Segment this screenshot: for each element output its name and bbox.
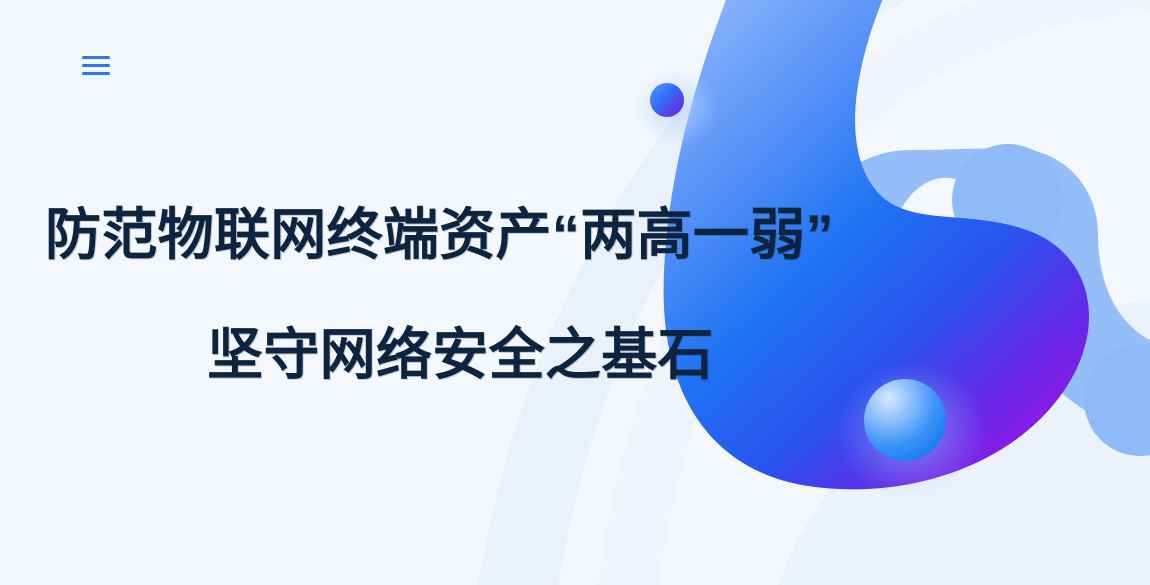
- page-title-line-2: 坚守网络安全之基石: [0, 327, 900, 383]
- small-gradient-sphere: [650, 83, 684, 117]
- large-blue-sphere: [864, 379, 946, 461]
- hamburger-menu-icon-bar-2: [82, 64, 110, 67]
- hook-cap-top: [952, 144, 1064, 256]
- hamburger-menu-icon-bar-1: [82, 56, 110, 59]
- slide-canvas: 防范物联网终端资产“两高一弱” 坚守网络安全之基石: [0, 0, 1150, 585]
- hook-cap-right: [1084, 344, 1150, 456]
- page-title: 防范物联网终端资产“两高一弱” 坚守网络安全之基石: [0, 207, 900, 383]
- page-title-line-1: 防范物联网终端资产“两高一弱”: [0, 207, 900, 263]
- hamburger-menu-icon-bar-3: [82, 72, 110, 75]
- hamburger-menu-button[interactable]: [82, 50, 116, 80]
- small-sphere-glow: [634, 68, 718, 148]
